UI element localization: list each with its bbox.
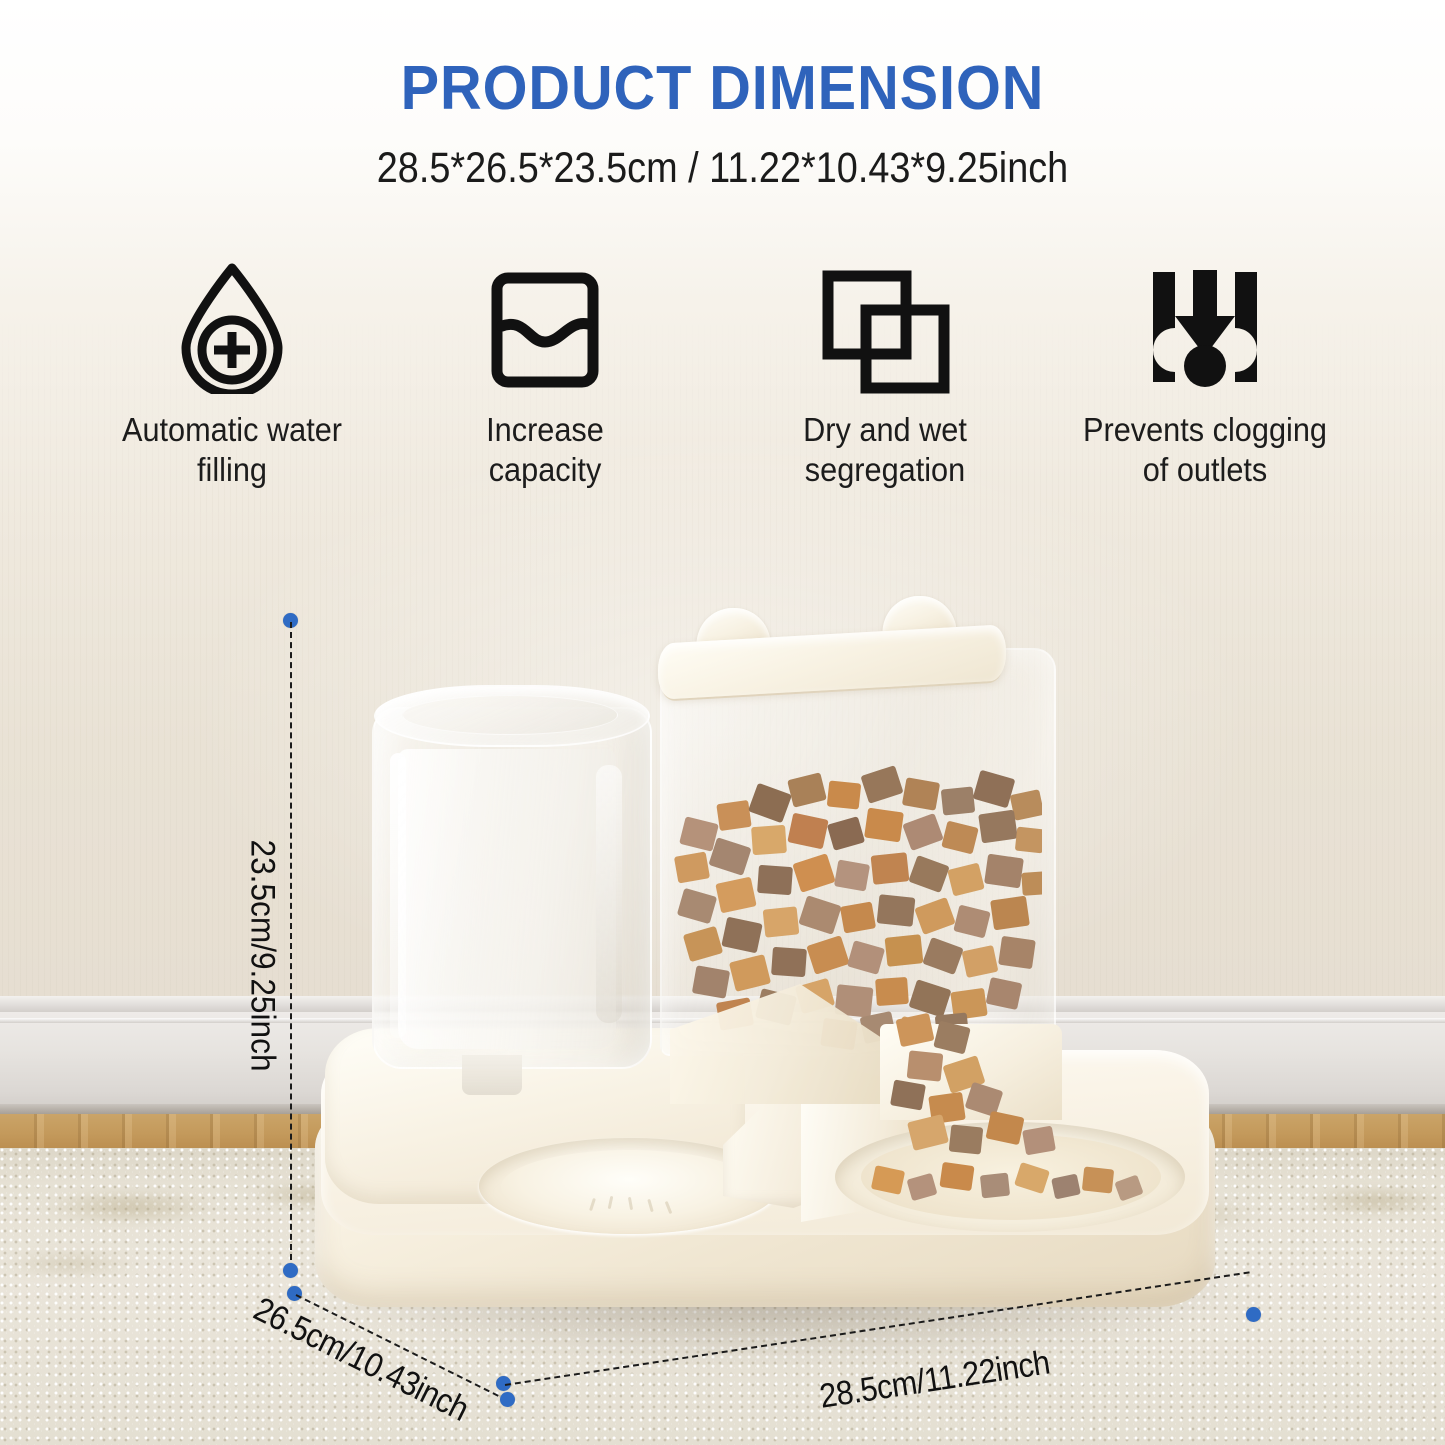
dimension-endpoint-dot <box>287 1286 302 1301</box>
water-bottle-neck <box>462 1055 522 1095</box>
bottle-highlight <box>390 753 406 1038</box>
dimension-line-height <box>290 622 292 1270</box>
bottle-highlight <box>596 765 622 1023</box>
dimension-endpoint-dot <box>283 1263 298 1278</box>
dimension-endpoint-dot <box>500 1392 515 1407</box>
water-bowl-slots <box>591 1196 681 1212</box>
food-hopper <box>640 612 1060 1052</box>
water-level <box>398 749 616 1049</box>
kibble-chute-stream <box>892 1016 1122 1166</box>
water-bowl-inner <box>501 1150 757 1224</box>
water-bottle-cap-inner <box>402 695 618 735</box>
product-dimension-infographic: PRODUCT DIMENSION 28.5*26.5*23.5cm / 11.… <box>0 0 1445 1445</box>
dimension-label-height: 23.5cm/9.25inch <box>243 840 282 1072</box>
kibble-fill <box>672 762 1042 1052</box>
dimension-endpoint-dot <box>1246 1307 1261 1322</box>
product-photo <box>0 0 1445 1445</box>
water-bottle <box>372 685 648 1065</box>
